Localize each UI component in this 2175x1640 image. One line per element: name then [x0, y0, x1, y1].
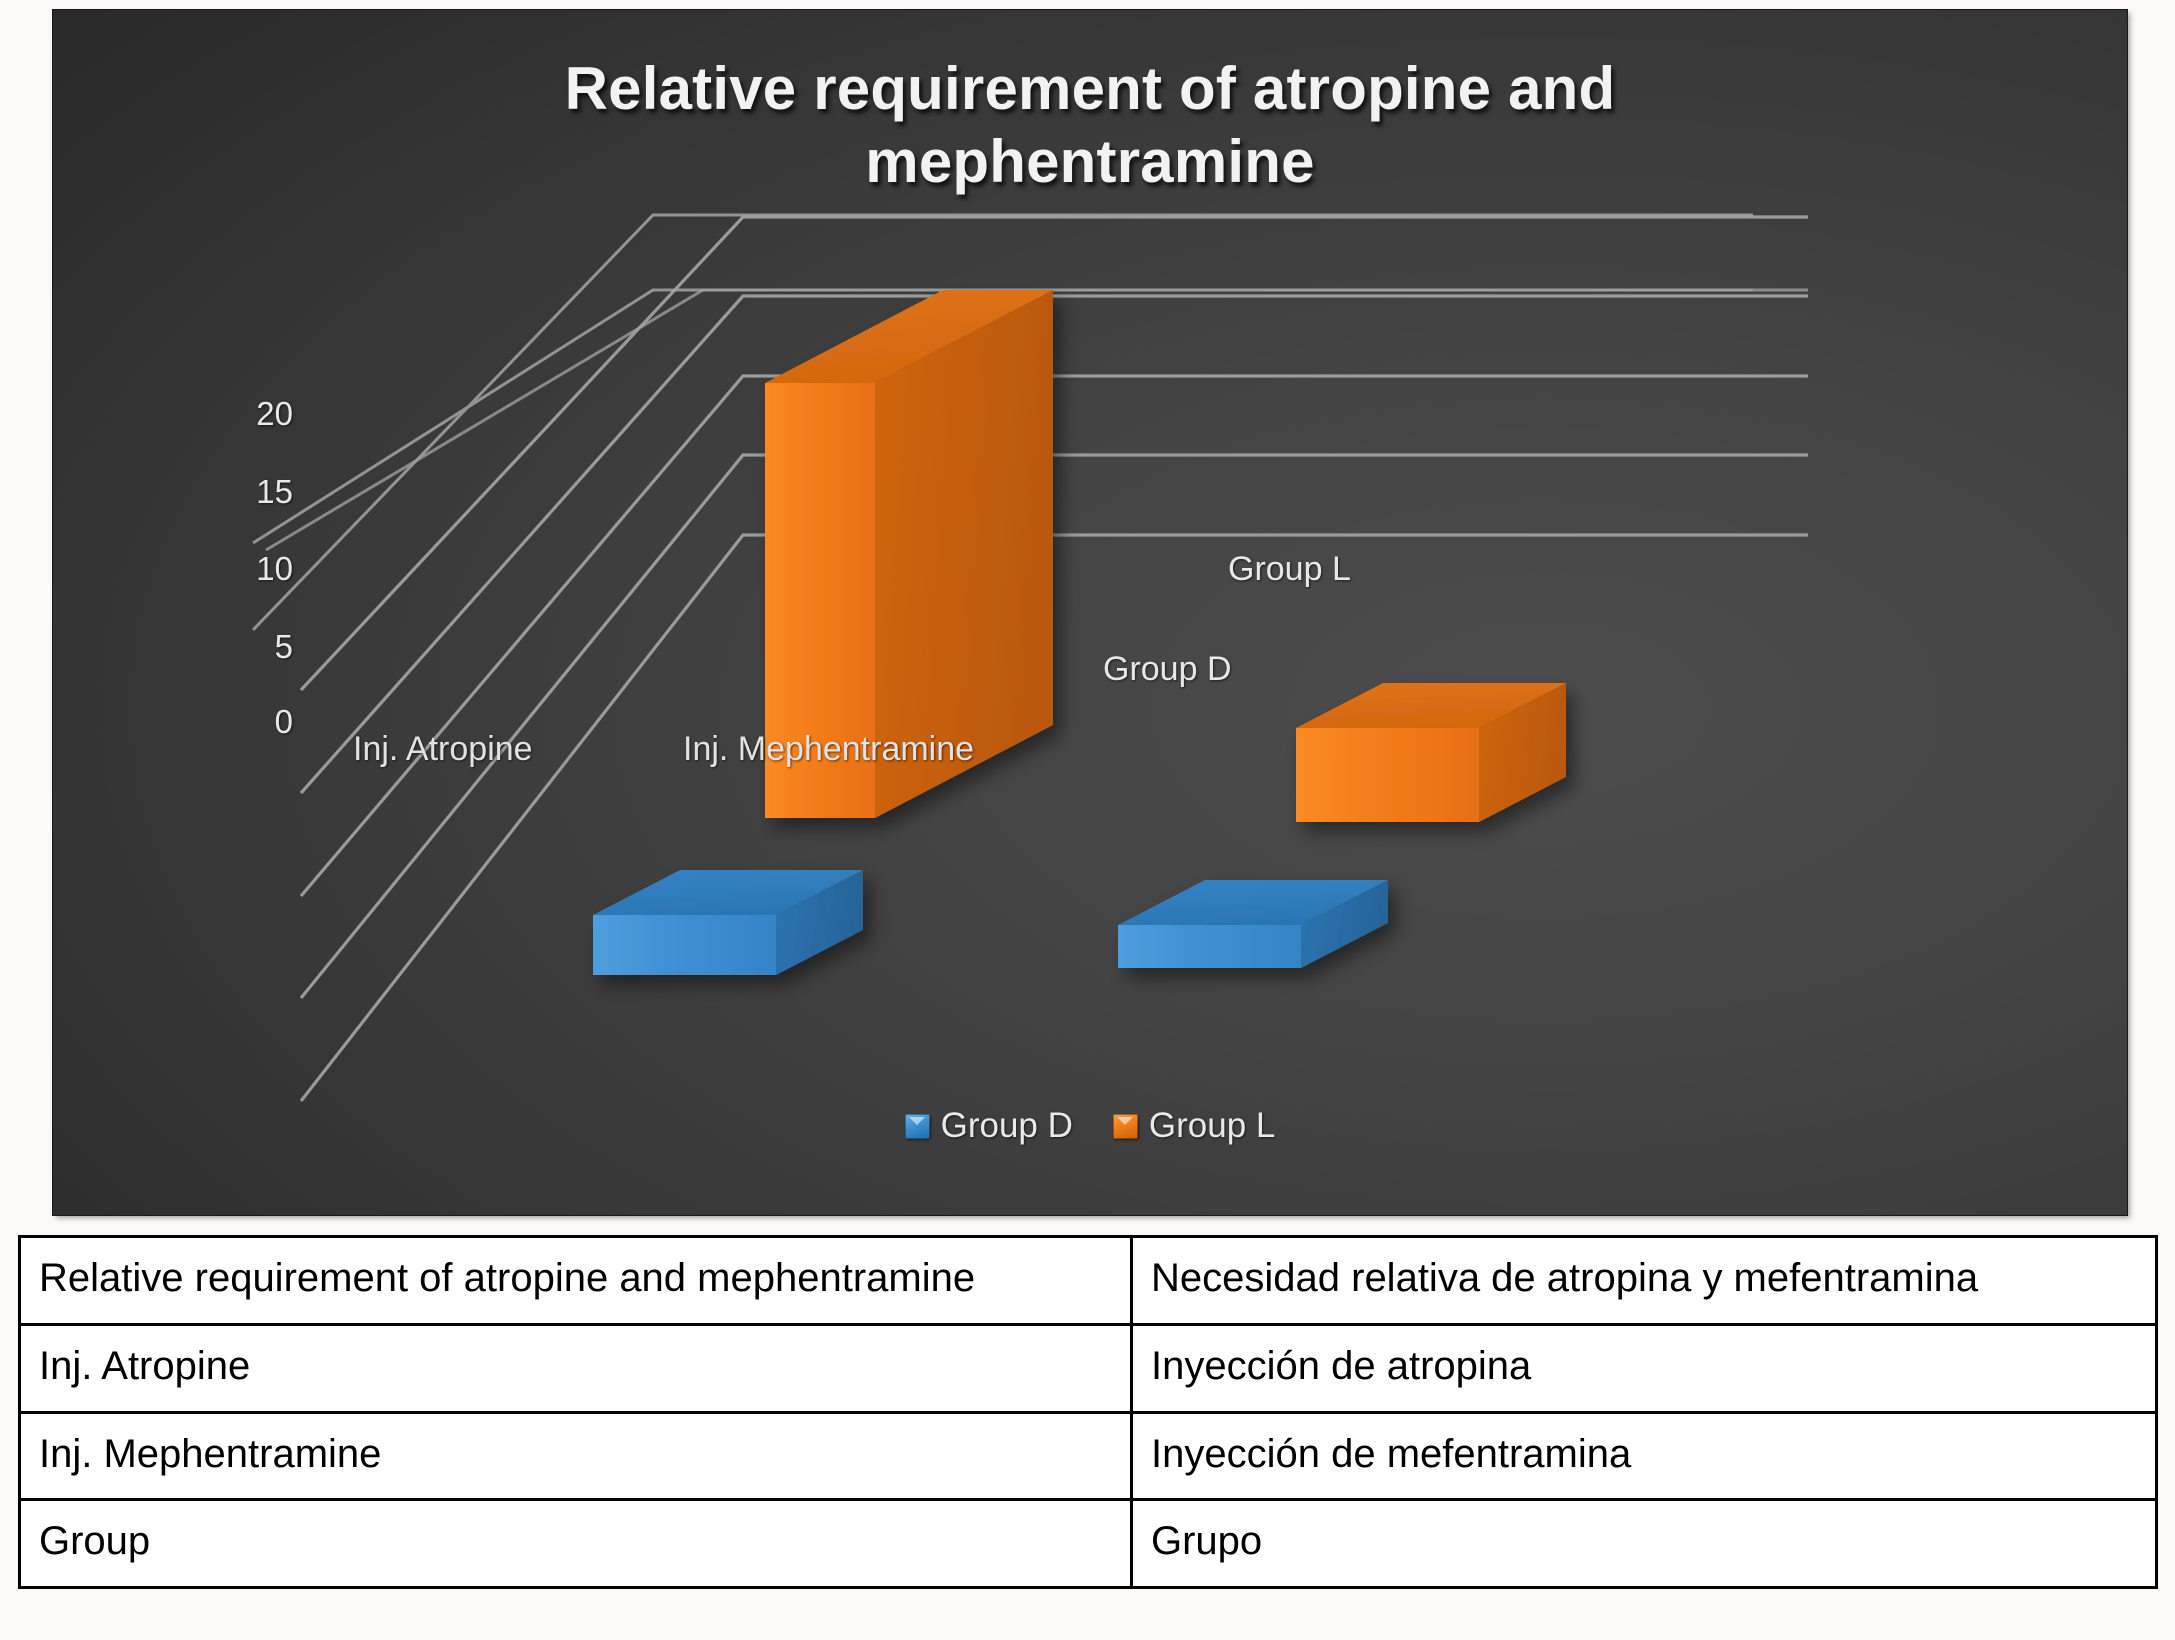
y-axis-tick-10: 10 [173, 550, 293, 588]
chart-legend: Group D Group L [53, 1106, 2127, 1146]
series-depth-label-group-d: Group D [1103, 650, 1232, 689]
bar-group-d-atropine [593, 870, 863, 975]
x-axis-label-atropine: Inj. Atropine [353, 730, 533, 769]
legend-swatch-icon-group-d [905, 1114, 930, 1139]
table-row: Inj. Atropine Inyección de atropina [20, 1324, 2157, 1412]
x-axis-label-mephentramine: Inj. Mephentramine [683, 730, 974, 769]
legend-label-group-l: Group L [1149, 1106, 1275, 1146]
chart-3d-geometry [53, 10, 2127, 1215]
table-row: Inj. Mephentramine Inyección de mefentra… [20, 1412, 2157, 1500]
table-cell-en: Inj. Atropine [20, 1324, 1132, 1412]
legend-item-group-l[interactable]: Group L [1113, 1106, 1275, 1146]
table-row: Relative requirement of atropine and mep… [20, 1237, 2157, 1325]
y-axis-tick-0: 0 [173, 703, 293, 741]
table-cell-es: Inyección de atropina [1132, 1324, 2157, 1412]
legend-item-group-d[interactable]: Group D [905, 1106, 1073, 1146]
bar-group-d-mephentramine [1118, 880, 1388, 968]
chart-3d-scene: 20 15 10 5 0 Inj. Atropine Inj. Mephentr… [53, 10, 2127, 1215]
translation-table: Relative requirement of atropine and mep… [18, 1235, 2158, 1589]
table-cell-en: Relative requirement of atropine and mep… [20, 1237, 1132, 1325]
y-axis-tick-20: 20 [173, 395, 293, 433]
table-cell-en: Inj. Mephentramine [20, 1412, 1132, 1500]
legend-label-group-d: Group D [941, 1106, 1073, 1146]
table-cell-en: Group [20, 1500, 1132, 1588]
chart-figure: Relative requirement of atropine and mep… [53, 10, 2127, 1215]
legend-swatch-icon-group-l [1113, 1114, 1138, 1139]
table-cell-es: Grupo [1132, 1500, 2157, 1588]
y-axis-tick-15: 15 [173, 473, 293, 511]
y-axis-tick-5: 5 [173, 628, 293, 666]
table-cell-es: Necesidad relativa de atropina y mefentr… [1132, 1237, 2157, 1325]
table-cell-es: Inyección de mefentramina [1132, 1412, 2157, 1500]
series-depth-label-group-l: Group L [1228, 550, 1351, 589]
page-root: Relative requirement of atropine and mep… [0, 0, 2175, 1640]
bar-group-l-mephentramine [1296, 683, 1566, 822]
table-row: Group Grupo [20, 1500, 2157, 1588]
